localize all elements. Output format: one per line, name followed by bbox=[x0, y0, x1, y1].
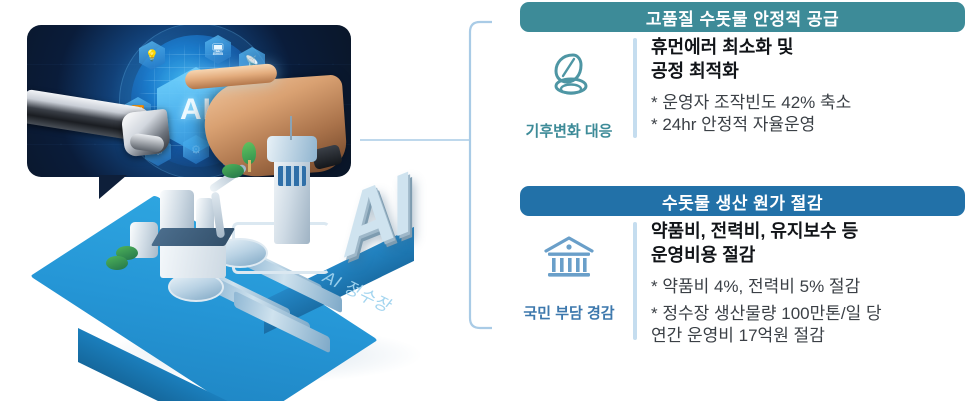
bank-icon bbox=[541, 220, 597, 282]
panel-bullet-item: * 24hr 안정적 자율운영 bbox=[651, 114, 851, 136]
leaf-icon bbox=[543, 36, 595, 98]
panel-bullet-item: * 약품비 4%, 전력비 5% 절감 bbox=[651, 276, 882, 298]
panel-cost-reduction: 수돗물 생산 원가 절감 bbox=[505, 186, 965, 396]
panel-header-cost-reduction: 수돗물 생산 원가 절감 bbox=[520, 186, 965, 216]
panel-text-column: 약품비, 전력비, 유지보수 등 운영비용 절감 * 약품비 4%, 전력비 5… bbox=[637, 220, 882, 352]
connector-bracket bbox=[352, 8, 492, 338]
panel-headline: 휴먼에러 최소화 및 공정 최적화 bbox=[651, 36, 851, 84]
panels-column: 고품질 수돗물 안정적 공급 기후변화 대응 bbox=[505, 0, 965, 401]
panel-bullet-list: * 약품비 4%, 전력비 5% 절감 * 정수장 생산물량 100만톤/일 당… bbox=[651, 276, 882, 347]
bush-graphic bbox=[222, 164, 244, 178]
panel-bullet-item: * 운영자 조작빈도 42% 축소 bbox=[651, 92, 851, 114]
panel-header-title: 고품질 수돗물 안정적 공급 bbox=[646, 5, 839, 30]
bush-graphic bbox=[106, 256, 128, 270]
control-tower-windows bbox=[278, 166, 306, 186]
plant-building bbox=[160, 242, 226, 278]
tree-graphic bbox=[242, 142, 256, 172]
panel-quality-supply: 고품질 수돗물 안정적 공급 기후변화 대응 bbox=[505, 2, 965, 180]
panel-icon-column: 기후변화 대응 bbox=[505, 36, 633, 141]
panel-text-column: 휴먼에러 최소화 및 공정 최적화 * 운영자 조작빈도 42% 축소 * 24… bbox=[637, 36, 851, 141]
panel-icon-column: 국민 부담 경감 bbox=[505, 220, 633, 352]
panel-header-quality-supply: 고품질 수돗물 안정적 공급 bbox=[520, 2, 965, 32]
panel-bullet-list: * 운영자 조작빈도 42% 축소 * 24hr 안정적 자율운영 bbox=[651, 92, 851, 136]
panel-header-title: 수돗물 생산 원가 절감 bbox=[662, 189, 823, 214]
connector-vertical-bracket bbox=[470, 22, 492, 328]
panel-icon-label: 기후변화 대응 bbox=[526, 120, 613, 141]
panel-icon-label: 국민 부담 경감 bbox=[523, 302, 614, 323]
panel-body: 국민 부담 경감 약품비, 전력비, 유지보수 등 운영비용 절감 * 약품비 … bbox=[505, 220, 965, 352]
panel-headline: 약품비, 전력비, 유지보수 등 운영비용 절감 bbox=[651, 220, 882, 268]
infographic-root: 💡 🖥 📡 📶 ☁ ⚙ ⚛ 🧠 AI bbox=[0, 0, 965, 401]
panel-bullet-item: * 정수장 생산물량 100만톤/일 당 연간 운영비 17억원 절감 bbox=[651, 303, 882, 347]
panel-body: 기후변화 대응 휴먼에러 최소화 및 공정 최적화 * 운영자 조작빈도 42%… bbox=[505, 36, 965, 141]
